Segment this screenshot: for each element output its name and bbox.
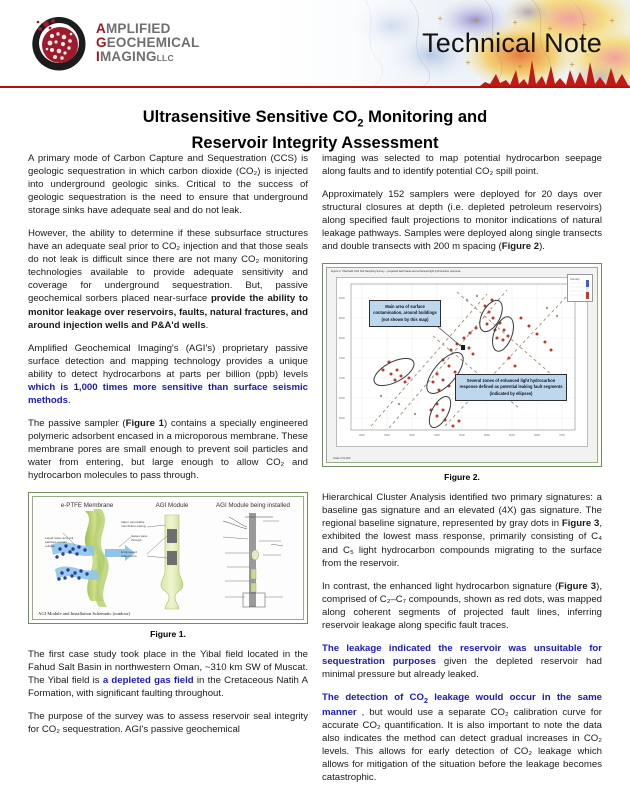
logo-line-2: GEOCHEMICAL xyxy=(96,36,199,50)
paragraph-leakage-conclusion: The leakage indicated the reservoir was … xyxy=(322,642,602,681)
figure2-plot-frame: 300035004000 450050005500 600065007000 9… xyxy=(336,277,588,447)
figure-2-image: Figure 2. Yibal field CO2 Soil Sampling … xyxy=(326,267,598,463)
document-type-label: Technical Note xyxy=(422,28,602,59)
paragraph-cluster-analysis: Hierarchical Cluster Analysis identified… xyxy=(322,491,602,569)
svg-text:5000: 5000 xyxy=(459,433,465,437)
figure2-map-title: Figure 2. Yibal field CO2 Soil Sampling … xyxy=(331,270,461,273)
paragraph-sampler-deployment: Approximately 152 samplers were deployed… xyxy=(322,188,602,253)
svg-text:6500: 6500 xyxy=(534,433,540,437)
paragraph-survey-purpose: The purpose of the survey was to assess … xyxy=(28,710,308,736)
svg-text:3000: 3000 xyxy=(359,433,365,437)
header-divider-rule xyxy=(0,86,630,88)
figure-2-box: Figure 2. Yibal field CO2 Soil Sampling … xyxy=(322,263,602,467)
figure-2-caption: Figure 2. xyxy=(322,472,602,482)
figure-1-image: e-PTFE Membrane AGI Module AGI Module be… xyxy=(32,496,304,620)
page-header: AMPLIFIED GEOCHEMICAL IMAGINGLLC Technic… xyxy=(0,0,630,88)
svg-text:4000: 4000 xyxy=(409,433,415,437)
paragraph-subsurface-seal: However, the ability to determine if the… xyxy=(28,227,308,331)
svg-text:7500: 7500 xyxy=(339,356,345,360)
figure1-label-module-note1: Vapor permeable membrane casing xyxy=(121,521,147,529)
figure-1-box: e-PTFE Membrane AGI Module AGI Module be… xyxy=(28,492,308,624)
figure1-label-module-note2: Engineered Adsorbents xyxy=(121,551,147,559)
figure2-callout-leaking-segments: Several zones of enhanced light hydrocar… xyxy=(455,374,567,400)
page-title: Ultrasensitive Sensitive CO2 Monitoring … xyxy=(60,106,570,156)
figure2-legend: Intensity xyxy=(567,274,593,302)
right-column: imaging was selected to map potential hy… xyxy=(322,152,602,794)
figure1-label-left-note: Liquid water and soil particles remain o… xyxy=(45,537,75,549)
article-columns: A primary mode of Carbon Capture and Seq… xyxy=(0,152,630,794)
svg-text:6500: 6500 xyxy=(339,396,345,400)
paragraph-agi-technology: Amplified Geochemical Imaging's (AGI's) … xyxy=(28,342,308,407)
paragraph-ccs-intro: A primary mode of Carbon Capture and Seq… xyxy=(28,152,308,217)
paragraph-yibal-case-study: The first case study took place in the Y… xyxy=(28,648,308,700)
svg-text:8500: 8500 xyxy=(339,316,345,320)
logo-line-3: IMAGINGLLC xyxy=(96,50,199,64)
svg-text:6000: 6000 xyxy=(339,416,345,420)
svg-text:7000: 7000 xyxy=(339,376,345,380)
figure2-callout-contamination: Main area of surface contamination, arou… xyxy=(369,300,441,326)
svg-text:9000: 9000 xyxy=(339,296,345,300)
agi-circle-logo-icon xyxy=(30,14,88,72)
figure-1-caption: Figure 1. xyxy=(28,629,308,639)
figure1-label-right-note: Gases pass through xyxy=(131,535,157,543)
svg-text:8000: 8000 xyxy=(339,336,345,340)
svg-text:7000: 7000 xyxy=(559,433,565,437)
svg-text:5500: 5500 xyxy=(484,433,490,437)
company-logo: AMPLIFIED GEOCHEMICAL IMAGINGLLC xyxy=(30,14,199,72)
svg-text:4500: 4500 xyxy=(434,433,440,437)
paragraph-enhanced-signature: In contrast, the enhanced light hydrocar… xyxy=(322,580,602,632)
svg-text:3500: 3500 xyxy=(384,433,390,437)
logo-wordmark: AMPLIFIED GEOCHEMICAL IMAGINGLLC xyxy=(96,22,199,63)
svg-text:6000: 6000 xyxy=(509,433,515,437)
paragraph-co2-detection: The detection of CO2 leakage would occur… xyxy=(322,691,602,784)
paragraph-imaging-selected: imaging was selected to map potential hy… xyxy=(322,152,602,178)
left-column: A primary mode of Carbon Capture and Seq… xyxy=(28,152,308,794)
figure1-schematic-caption: AGI Module and Installation Schematic (o… xyxy=(38,611,130,616)
paragraph-passive-sampler: The passive sampler (Figure 1) contains … xyxy=(28,417,308,482)
figure2-footnote: Scale 1:50,000 xyxy=(333,457,350,460)
logo-line-1: AMPLIFIED xyxy=(96,22,199,36)
svg-text:Intensity: Intensity xyxy=(570,277,580,281)
